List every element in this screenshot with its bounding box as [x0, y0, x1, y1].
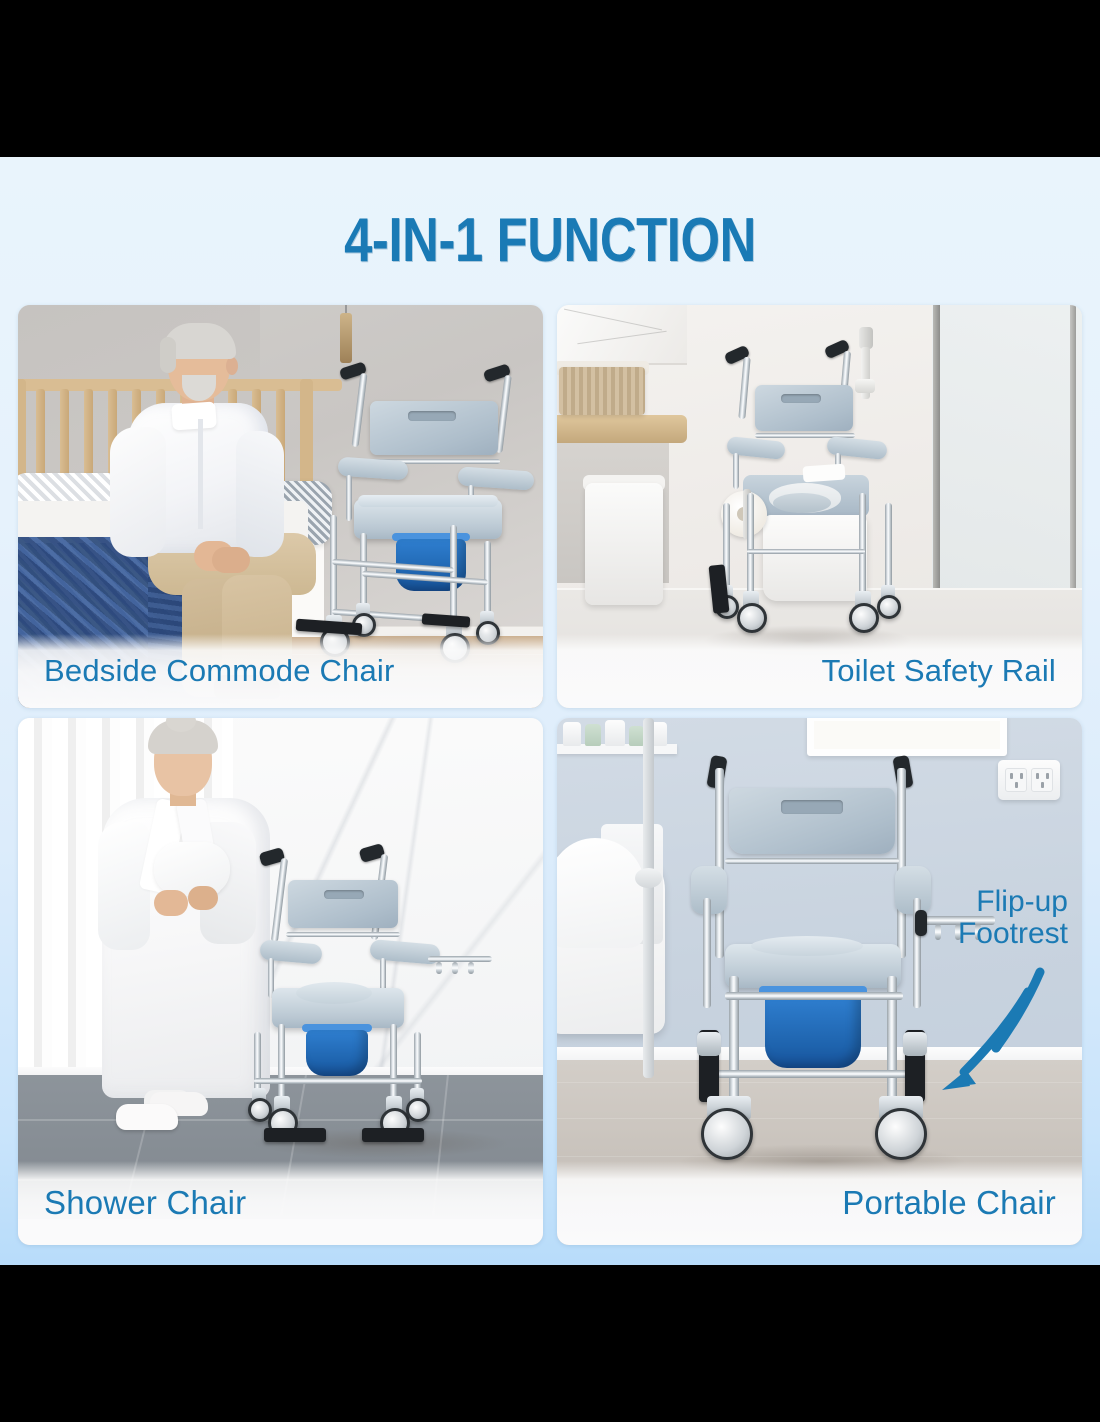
shelf-jar — [585, 724, 601, 746]
annotation-arrow-icon — [936, 966, 1066, 1098]
wood-counter — [557, 415, 687, 443]
panel-caption: Shower Chair — [44, 1184, 246, 1222]
panel-portable-chair[interactable]: Flip-up Footrest Portable Chair — [557, 718, 1082, 1245]
shelf-jar — [629, 726, 644, 746]
person-seated-man — [86, 327, 326, 679]
panel-caption: Bedside Commode Chair — [44, 653, 395, 689]
commode-chair-product — [250, 846, 518, 1154]
infographic-canvas: 4-IN-1 FUNCTION — [0, 157, 1100, 1265]
annotation-flip-up-footrest: Flip-up Footrest — [858, 886, 1068, 950]
screenshot-root: 4-IN-1 FUNCTION — [0, 0, 1100, 1422]
commode-chair-product — [667, 748, 977, 1178]
shelf-jar — [605, 720, 625, 746]
panel-bedside-commode-chair[interactable]: Bedside Commode Chair — [18, 305, 543, 708]
letterbox-bar-bottom — [0, 1265, 1100, 1422]
commode-chair-product — [318, 365, 533, 665]
page-title: 4-IN-1 FUNCTION — [99, 205, 1001, 276]
panel-grid: Bedside Commode Chair — [18, 305, 1082, 1245]
panel-caption: Portable Chair — [842, 1184, 1056, 1222]
commode-chair-product — [707, 343, 913, 655]
letterbox-bar-top — [0, 0, 1100, 157]
toilet-lid — [557, 838, 645, 948]
panel-shower-chair[interactable]: Shower Chair — [18, 718, 543, 1245]
annotation-line-1: Flip-up — [858, 886, 1068, 918]
wall-outlet-icon — [998, 760, 1060, 800]
panel-caption-bar: Bedside Commode Chair — [18, 634, 543, 708]
vertical-pipe — [643, 718, 654, 1078]
panel-caption-bar: Toilet Safety Rail — [557, 634, 1082, 708]
panel-toilet-safety-rail[interactable]: Toilet Safety Rail — [557, 305, 1082, 708]
annotation-line-2: Footrest — [858, 918, 1068, 950]
panel-caption: Toilet Safety Rail — [822, 653, 1056, 689]
pipe-flange — [635, 868, 662, 888]
trash-bin — [585, 483, 663, 605]
marble-counter-top — [557, 305, 687, 365]
woven-basket — [559, 367, 645, 415]
panel-caption-bar: Shower Chair — [18, 1161, 543, 1245]
panel-caption-bar: Portable Chair — [557, 1161, 1082, 1245]
shelf-jar — [563, 722, 581, 746]
pendant-lamp-icon — [340, 313, 352, 363]
